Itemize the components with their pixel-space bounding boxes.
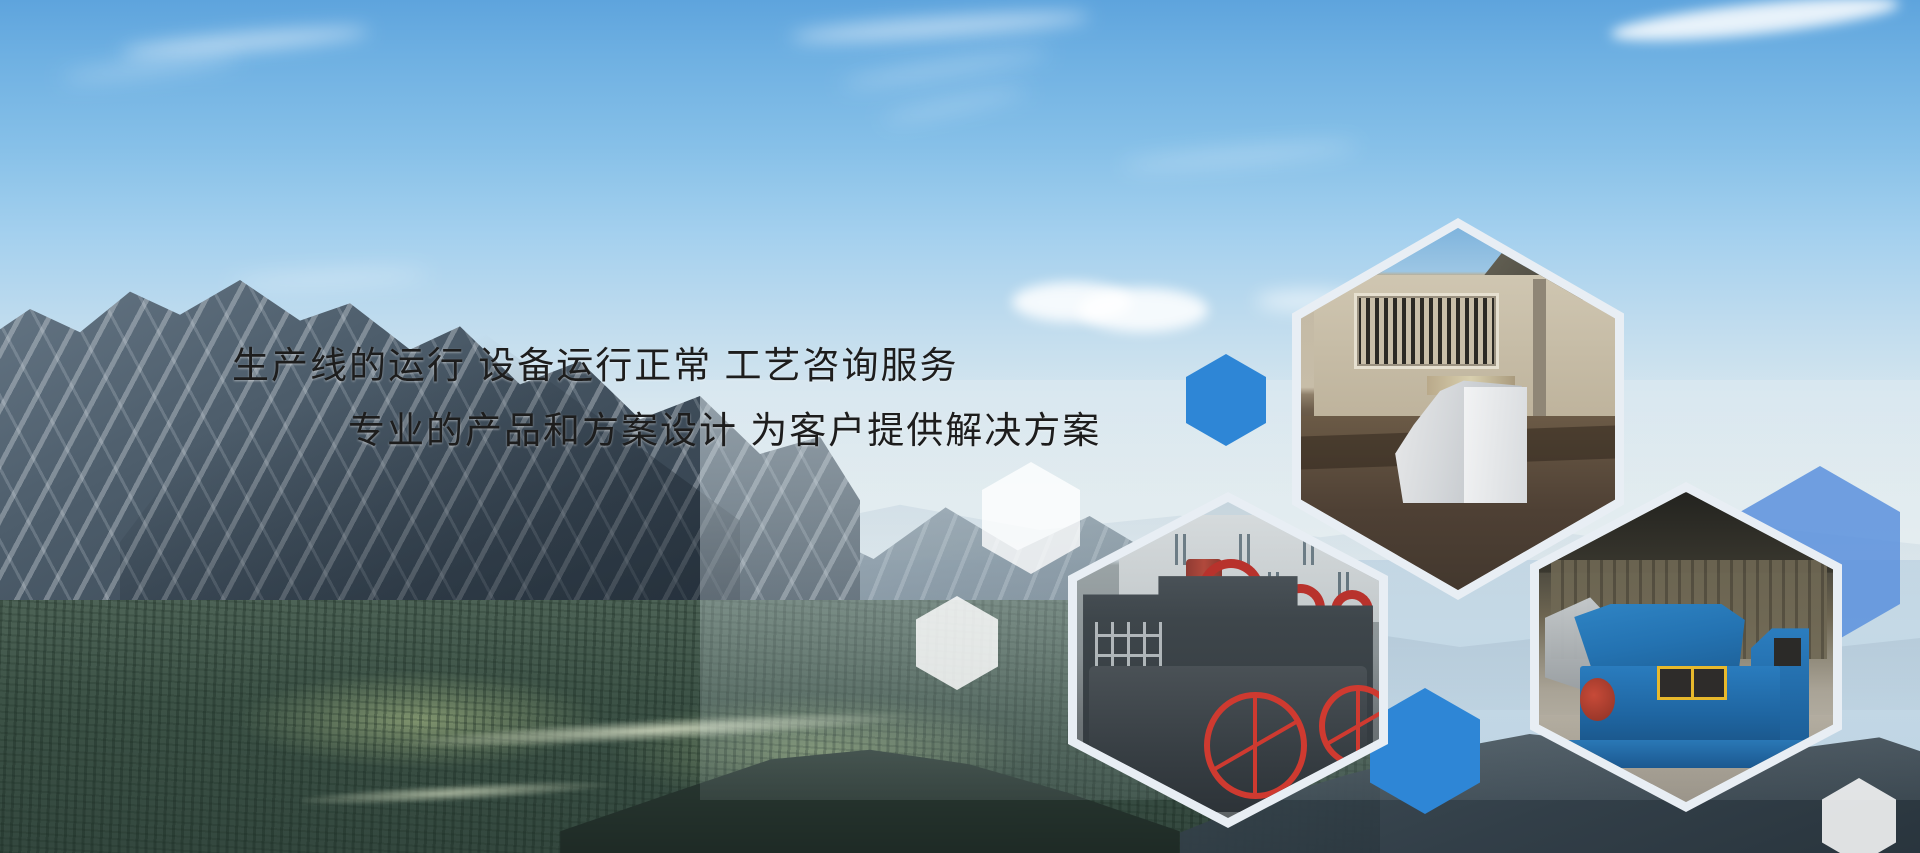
headline-line-1: 生产线的运行 设备运行正常 工艺咨询服务	[232, 335, 959, 389]
cloud-puff-2	[1078, 288, 1208, 332]
headline-line-2: 专业的产品和方案设计 为客户提供解决方案	[348, 400, 1101, 454]
banner-stage: 生产线的运行 设备运行正常 工艺咨询服务 专业的产品和方案设计 为客户提供解决方…	[0, 0, 1920, 853]
hex-photo-ladle-image	[1301, 228, 1615, 590]
hex-photo-blue-image	[1539, 492, 1833, 802]
hex-photo-grey-image	[1077, 502, 1379, 818]
